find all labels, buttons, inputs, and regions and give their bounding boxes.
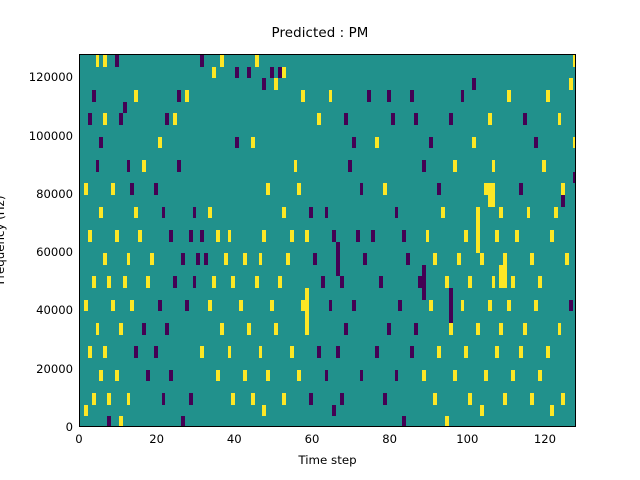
heatmap-cell xyxy=(107,276,111,288)
heatmap-cell xyxy=(231,393,235,405)
heatmap-cell xyxy=(169,370,173,382)
heatmap-cell xyxy=(107,416,111,427)
heatmap-cell xyxy=(468,393,472,405)
heatmap-cell xyxy=(259,346,263,358)
heatmap-cell xyxy=(573,55,576,67)
heatmap-cell xyxy=(480,253,484,265)
heatmap-cell xyxy=(165,323,169,335)
heatmap-cell xyxy=(499,323,503,335)
heatmap-cell xyxy=(360,370,364,382)
heatmap-cell xyxy=(290,346,294,358)
heatmap-cell xyxy=(348,160,352,172)
heatmap-cell xyxy=(251,393,255,405)
heatmap-cell xyxy=(569,300,573,312)
heatmap-cell xyxy=(561,183,565,195)
heatmap-cell xyxy=(565,253,569,265)
heatmap-cell xyxy=(317,346,321,358)
heatmap-cell xyxy=(453,160,457,172)
heatmap-cell xyxy=(193,276,197,288)
heatmap-cell xyxy=(488,183,496,206)
heatmap-cell xyxy=(375,137,379,149)
heatmap-cell xyxy=(243,370,247,382)
heatmap-cell xyxy=(162,207,166,219)
y-axis-tick-mark xyxy=(79,311,80,312)
heatmap-cell xyxy=(305,230,309,242)
heatmap-cell xyxy=(503,253,507,265)
heatmap-cell xyxy=(208,207,212,219)
heatmap-cell xyxy=(480,405,484,417)
heatmap-cell xyxy=(449,323,453,335)
heatmap-cell xyxy=(130,300,134,312)
heatmap-cell xyxy=(309,207,313,219)
heatmap-cell xyxy=(165,113,169,125)
heatmap-cell xyxy=(488,300,492,312)
heatmap-cell xyxy=(107,393,111,405)
heatmap-cell xyxy=(243,253,247,265)
heatmap-cell xyxy=(325,207,329,219)
heatmap-cell xyxy=(216,230,220,242)
heatmap-cell xyxy=(158,300,162,312)
heatmap-cell xyxy=(154,183,158,195)
heatmap-cell xyxy=(294,160,298,172)
y-axis-tick-mark xyxy=(79,137,80,138)
heatmap-cells xyxy=(80,55,575,426)
heatmap-cell xyxy=(410,90,414,102)
heatmap-cell xyxy=(387,323,391,335)
heatmap-cell xyxy=(344,323,348,335)
heatmap-cell xyxy=(449,288,453,323)
x-axis-tick-label: 120 xyxy=(534,432,556,446)
y-axis-tick-mark xyxy=(79,370,80,371)
heatmap-cell xyxy=(220,323,224,335)
heatmap-cell xyxy=(340,393,344,405)
heatmap-cell xyxy=(127,160,131,172)
heatmap-cell xyxy=(437,346,441,358)
heatmap-cell xyxy=(321,276,325,288)
heatmap-cell xyxy=(270,67,274,79)
heatmap-cell xyxy=(329,90,333,102)
heatmap-cell xyxy=(127,253,131,265)
heatmap-cell xyxy=(286,253,290,265)
heatmap-cell xyxy=(142,160,146,172)
heatmap-cell xyxy=(437,183,441,195)
heatmap-cell xyxy=(193,207,197,219)
y-axis-tick-label: 0 xyxy=(66,420,73,434)
heatmap-cell xyxy=(123,102,127,114)
heatmap-cell xyxy=(162,393,166,405)
heatmap-cell xyxy=(204,253,208,265)
heatmap-cell xyxy=(329,300,333,312)
heatmap-cell xyxy=(561,195,565,207)
heatmap-cell xyxy=(84,183,88,195)
y-axis-tick-label: 100000 xyxy=(29,129,73,143)
heatmap-cell xyxy=(534,137,538,149)
heatmap-cell xyxy=(247,67,251,79)
heatmap-cell xyxy=(375,346,379,358)
heatmap-cell xyxy=(212,67,216,79)
heatmap-cell xyxy=(340,276,344,288)
heatmap-cell xyxy=(119,323,123,335)
heatmap-cell xyxy=(558,113,562,125)
heatmap-cell xyxy=(103,253,107,265)
heatmap-cell xyxy=(196,253,200,265)
heatmap-cell xyxy=(189,230,193,242)
heatmap-cell xyxy=(111,300,115,312)
x-axis-tick-labels: 020406080100120 xyxy=(79,432,576,448)
heatmap-cell xyxy=(290,230,294,242)
heatmap-cell xyxy=(96,160,100,172)
heatmap-cell xyxy=(239,300,243,312)
heatmap-cell xyxy=(561,393,565,405)
heatmap-cell xyxy=(332,405,336,417)
heatmap-cell xyxy=(363,253,367,265)
heatmap-cell xyxy=(185,300,189,312)
heatmap-cell xyxy=(115,370,119,382)
heatmap-cell xyxy=(88,113,92,125)
x-axis-tick-label: 40 xyxy=(227,432,242,446)
heatmap-cell xyxy=(352,300,356,312)
heatmap-cell xyxy=(255,55,259,67)
heatmap-cell xyxy=(453,370,457,382)
heatmap-cell xyxy=(103,55,107,67)
x-axis-title: Time step xyxy=(79,453,576,467)
heatmap-cell xyxy=(177,90,181,102)
heatmap-cell xyxy=(228,346,232,358)
heatmap-cell xyxy=(395,207,399,219)
heatmap-cell xyxy=(181,253,185,265)
heatmap-cell xyxy=(523,323,527,335)
heatmap-cell xyxy=(550,230,554,242)
heatmap-cell xyxy=(433,393,437,405)
heatmap-plot-area[interactable] xyxy=(79,54,576,427)
heatmap-cell xyxy=(433,253,437,265)
heatmap-cell xyxy=(111,183,115,195)
heatmap-cell xyxy=(492,276,496,288)
heatmap-cell xyxy=(383,183,387,195)
heatmap-cell xyxy=(519,346,523,358)
heatmap-cell xyxy=(445,276,449,288)
heatmap-cell xyxy=(336,346,340,358)
heatmap-cell xyxy=(255,276,259,288)
heatmap-cell xyxy=(158,137,162,149)
heatmap-cell xyxy=(96,55,100,67)
heatmap-cell xyxy=(538,370,542,382)
heatmap-cell xyxy=(542,160,546,172)
y-axis-tick-label: 120000 xyxy=(29,70,73,84)
heatmap-cell xyxy=(127,393,131,405)
heatmap-cell xyxy=(379,276,383,288)
heatmap-cell xyxy=(426,230,430,242)
heatmap-cell xyxy=(99,370,103,382)
heatmap-cell xyxy=(282,67,286,79)
heatmap-cell xyxy=(266,183,270,195)
heatmap-cell xyxy=(530,253,534,265)
heatmap-cell xyxy=(119,416,123,427)
heatmap-cell xyxy=(569,78,573,90)
heatmap-cell xyxy=(499,207,503,219)
x-axis-tick-label: 60 xyxy=(305,432,320,446)
heatmap-cell xyxy=(558,323,562,335)
heatmap-cell xyxy=(457,253,461,265)
heatmap-cell xyxy=(259,253,263,265)
heatmap-cell xyxy=(224,253,228,265)
y-axis-tick-label: 40000 xyxy=(36,303,73,317)
chart-title: Predicted : PM xyxy=(0,26,640,41)
heatmap-cell xyxy=(138,230,142,242)
heatmap-cell xyxy=(123,276,127,288)
heatmap-cell xyxy=(352,137,356,149)
heatmap-cell xyxy=(472,137,476,149)
heatmap-cell xyxy=(387,90,391,102)
heatmap-cell xyxy=(511,370,515,382)
heatmap-cell xyxy=(99,207,103,219)
heatmap-cell xyxy=(212,276,216,288)
heatmap-cell xyxy=(449,113,453,125)
heatmap-cell xyxy=(464,346,468,358)
heatmap-cell xyxy=(519,183,523,195)
heatmap-cell xyxy=(92,393,96,405)
heatmap-cell xyxy=(103,113,107,125)
heatmap-cell xyxy=(150,253,154,265)
heatmap-cell xyxy=(88,346,92,358)
heatmap-cell xyxy=(476,207,480,219)
heatmap-cell xyxy=(220,55,224,67)
heatmap-cell xyxy=(154,346,158,358)
heatmap-cell xyxy=(445,416,449,427)
heatmap-cell xyxy=(262,405,266,417)
heatmap-cell xyxy=(356,230,360,242)
heatmap-cell xyxy=(395,370,399,382)
heatmap-cell xyxy=(495,230,499,242)
heatmap-cell xyxy=(360,183,364,195)
heatmap-cell xyxy=(84,300,88,312)
heatmap-cell xyxy=(173,113,177,125)
heatmap-cell xyxy=(235,67,239,79)
heatmap-cell xyxy=(573,137,576,149)
heatmap-cell xyxy=(464,230,468,242)
heatmap-cell xyxy=(538,276,542,288)
heatmap-cell xyxy=(274,78,278,90)
heatmap-cell xyxy=(84,405,88,417)
heatmap-cell xyxy=(282,207,286,219)
heatmap-cell xyxy=(499,265,507,288)
heatmap-cell xyxy=(317,113,321,125)
heatmap-cell xyxy=(146,276,150,288)
heatmap-cell xyxy=(134,207,138,219)
y-axis-tick-label: 60000 xyxy=(36,245,73,259)
heatmap-cell xyxy=(181,416,185,427)
heatmap-cell xyxy=(414,323,418,335)
heatmap-cell xyxy=(468,276,472,288)
heatmap-cell xyxy=(235,137,239,149)
heatmap-cell xyxy=(523,113,527,125)
y-axis-tick-label: 80000 xyxy=(36,187,73,201)
x-axis-tick-label: 0 xyxy=(75,432,82,446)
heatmap-cell xyxy=(429,300,433,312)
heatmap-cell xyxy=(119,113,123,125)
heatmap-cell xyxy=(142,323,146,335)
heatmap-cell xyxy=(461,90,465,102)
heatmap-cell xyxy=(92,276,96,288)
heatmap-cell xyxy=(414,113,418,125)
heatmap-cell xyxy=(429,137,433,149)
heatmap-cell xyxy=(270,300,274,312)
y-axis-tick-labels: 020000400006000080000100000120000 xyxy=(0,54,73,427)
heatmap-cell xyxy=(383,393,387,405)
heatmap-cell xyxy=(208,300,212,312)
heatmap-cell xyxy=(96,323,100,335)
heatmap-cell xyxy=(488,113,492,125)
heatmap-cell xyxy=(282,393,286,405)
x-axis-tick-label: 20 xyxy=(149,432,164,446)
heatmap-cell xyxy=(573,172,576,184)
heatmap-cell xyxy=(200,230,204,242)
heatmap-cell xyxy=(115,55,119,67)
heatmap-cell xyxy=(88,230,92,242)
figure-canvas: Predicted : PM 0200004000060000800001000… xyxy=(0,0,640,480)
heatmap-cell xyxy=(134,90,138,102)
heatmap-cell xyxy=(367,90,371,102)
heatmap-cell xyxy=(231,276,235,288)
heatmap-cell xyxy=(313,253,317,265)
heatmap-cell xyxy=(507,90,511,102)
heatmap-cell xyxy=(216,370,220,382)
heatmap-cell xyxy=(461,300,465,312)
heatmap-cell xyxy=(134,346,138,358)
heatmap-cell xyxy=(546,90,550,102)
heatmap-cell xyxy=(92,90,96,102)
heatmap-cell xyxy=(173,276,177,288)
y-axis-tick-mark xyxy=(79,195,80,196)
heatmap-cell xyxy=(507,300,511,312)
heatmap-cell xyxy=(115,230,119,242)
heatmap-cell xyxy=(278,276,282,288)
x-axis-tick-label: 80 xyxy=(382,432,397,446)
heatmap-cell xyxy=(530,393,534,405)
heatmap-cell xyxy=(301,90,305,102)
heatmap-cell xyxy=(441,207,445,219)
heatmap-cell xyxy=(309,393,313,405)
heatmap-cell xyxy=(550,405,554,417)
heatmap-cell xyxy=(305,323,309,335)
heatmap-cell xyxy=(546,346,550,358)
heatmap-cell xyxy=(495,346,499,358)
heatmap-cell xyxy=(185,90,189,102)
heatmap-cell xyxy=(515,230,519,242)
heatmap-cell xyxy=(406,253,410,265)
heatmap-cell xyxy=(247,323,251,335)
heatmap-cell xyxy=(371,230,375,242)
x-axis-tick-label: 100 xyxy=(456,432,478,446)
heatmap-cell xyxy=(297,183,301,195)
heatmap-cell xyxy=(130,183,134,195)
heatmap-cell xyxy=(200,55,204,67)
heatmap-cell xyxy=(169,230,173,242)
heatmap-cell xyxy=(484,370,488,382)
heatmap-cell xyxy=(503,393,507,405)
heatmap-cell xyxy=(472,78,476,90)
heatmap-cell xyxy=(228,230,232,242)
heatmap-cell xyxy=(391,113,395,125)
heatmap-cell xyxy=(398,300,402,312)
heatmap-cell xyxy=(99,137,103,149)
heatmap-cell xyxy=(262,78,266,90)
heatmap-cell xyxy=(177,160,181,172)
heatmap-cell xyxy=(344,113,348,125)
heatmap-cell xyxy=(200,346,204,358)
heatmap-cell xyxy=(146,370,150,382)
heatmap-cell xyxy=(325,370,329,382)
y-axis-tick-label: 20000 xyxy=(36,362,73,376)
heatmap-cell xyxy=(305,288,309,323)
heatmap-cell xyxy=(332,230,336,242)
heatmap-cell xyxy=(422,265,426,300)
heatmap-cell xyxy=(476,218,480,253)
heatmap-cell xyxy=(336,242,340,277)
heatmap-cell xyxy=(297,370,301,382)
heatmap-cell xyxy=(103,346,107,358)
heatmap-cell xyxy=(410,346,414,358)
heatmap-cell xyxy=(476,323,480,335)
heatmap-cell xyxy=(189,393,193,405)
heatmap-cell xyxy=(511,276,515,288)
heatmap-cell xyxy=(534,300,538,312)
heatmap-cell xyxy=(266,370,270,382)
y-axis-title: Frequency (Hz) xyxy=(0,140,7,340)
heatmap-cell xyxy=(527,207,531,219)
heatmap-cell xyxy=(251,137,255,149)
heatmap-cell xyxy=(402,416,406,427)
heatmap-cell xyxy=(262,230,266,242)
heatmap-cell xyxy=(274,323,278,335)
heatmap-cell xyxy=(554,207,558,219)
heatmap-cell xyxy=(422,370,426,382)
heatmap-cell xyxy=(422,160,426,172)
y-axis-tick-mark xyxy=(79,78,80,79)
y-axis-tick-mark xyxy=(79,253,80,254)
heatmap-cell xyxy=(492,160,496,172)
heatmap-cell xyxy=(402,230,406,242)
